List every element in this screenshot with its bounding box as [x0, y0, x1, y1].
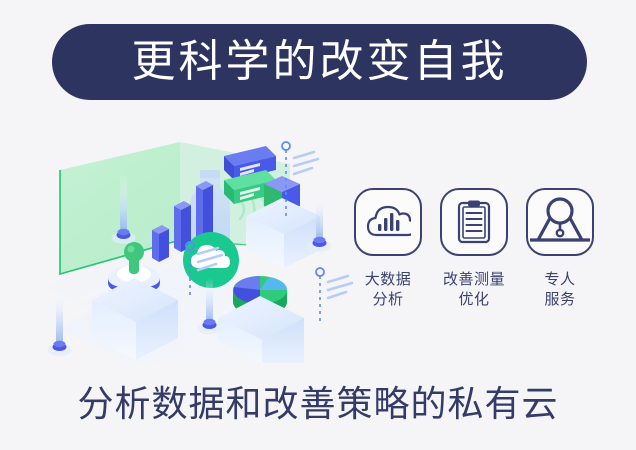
isometric-data-cloud-illustration — [28, 128, 358, 363]
page-title: 更科学的改变自我 — [132, 40, 508, 84]
feature-label-line1: 改善测量 — [443, 269, 505, 289]
feature-label-line2: 分析 — [365, 289, 412, 309]
feature-item-big-data[interactable]: 大数据 分析 — [352, 188, 424, 309]
page-title-banner: 更科学的改变自我 — [52, 24, 587, 100]
cloud-bar-chart-icon — [354, 188, 422, 256]
feature-label-measurement: 改善测量 优化 — [443, 269, 505, 309]
feature-list: 大数据 分析 改善测量 优化 — [352, 188, 596, 309]
feature-label-big-data: 大数据 分析 — [365, 269, 412, 309]
feature-label-line1: 专人 — [544, 269, 575, 289]
support-agent-icon — [526, 188, 594, 256]
clipboard-icon — [440, 188, 508, 256]
feature-label-support: 专人 服务 — [544, 269, 575, 309]
feature-item-support[interactable]: 专人 服务 — [524, 188, 596, 309]
feature-item-measurement[interactable]: 改善测量 优化 — [438, 188, 510, 309]
feature-label-line2: 服务 — [544, 289, 575, 309]
bar-small — [152, 225, 169, 262]
feature-label-line1: 大数据 — [365, 269, 412, 289]
page-tagline: 分析数据和改善策略的私有云 — [0, 385, 636, 425]
feature-label-line2: 优化 — [443, 289, 505, 309]
